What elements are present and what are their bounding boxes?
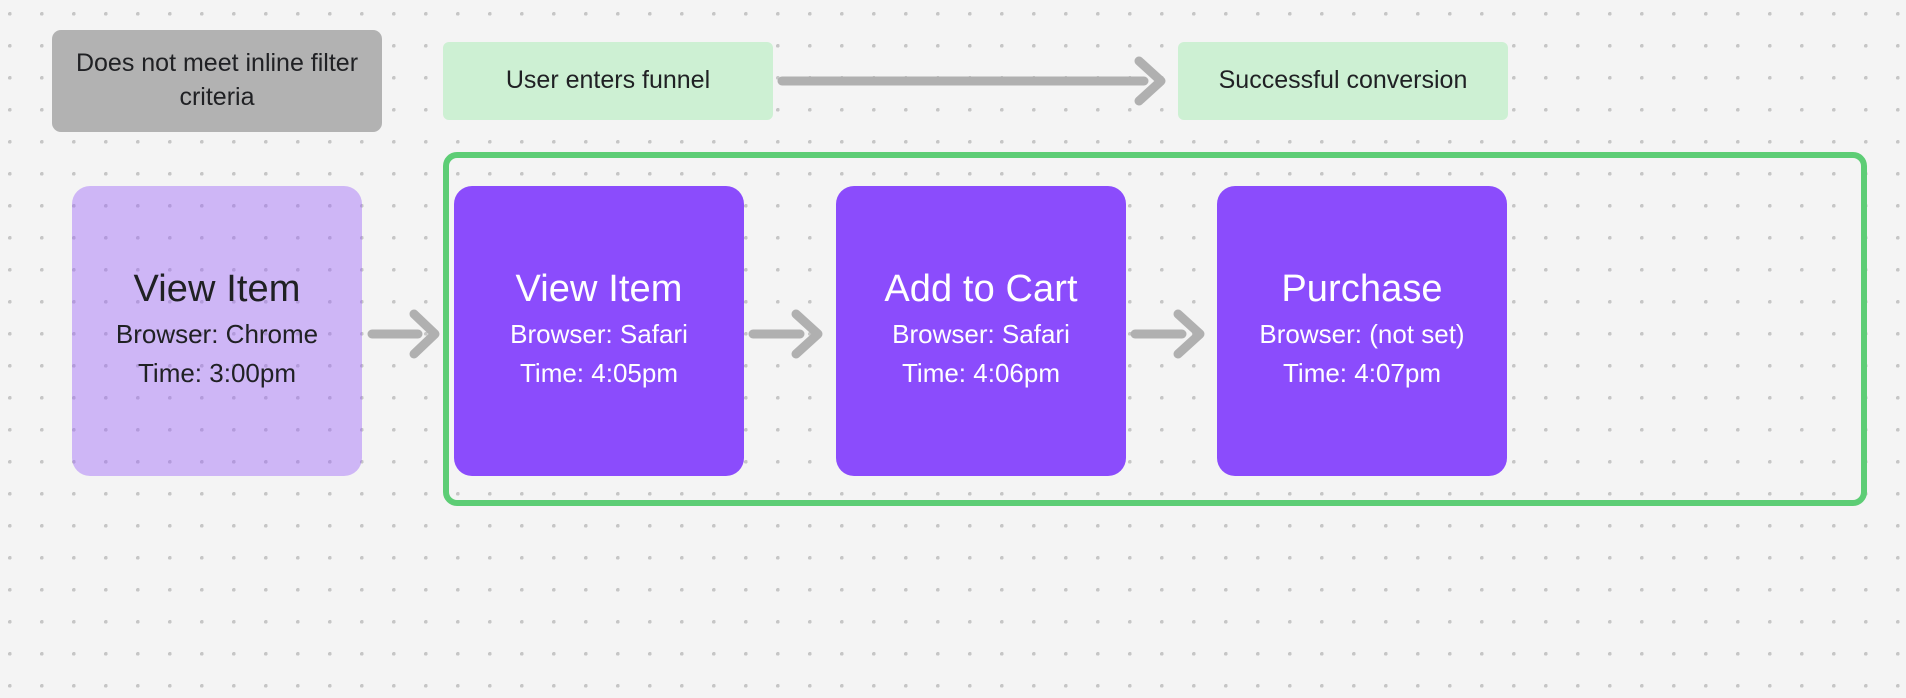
event-card-browser: Browser: Chrome xyxy=(116,315,318,355)
legend-conversion-label: Successful conversion xyxy=(1219,64,1468,98)
event-card-browser: Browser: Safari xyxy=(510,315,688,355)
event-card-time: Time: 3:00pm xyxy=(138,354,296,394)
legend-excluded-chip: Does not meet inline filter criteria xyxy=(52,30,382,132)
event-card-funnel-step-1[interactable]: View Item Browser: Safari Time: 4:05pm xyxy=(454,186,744,476)
event-card-browser: Browser: Safari xyxy=(892,315,1070,355)
event-card-time: Time: 4:07pm xyxy=(1283,354,1441,394)
legend-excluded-label: Does not meet inline filter criteria xyxy=(52,47,382,115)
event-card-time: Time: 4:05pm xyxy=(520,354,678,394)
legend-funnel-entry-label: User enters funnel xyxy=(506,64,710,98)
event-card-excluded[interactable]: View Item Browser: Chrome Time: 3:00pm xyxy=(72,186,362,476)
event-card-title: Purchase xyxy=(1281,268,1442,311)
legend-conversion-chip: Successful conversion xyxy=(1178,42,1508,120)
event-card-time: Time: 4:06pm xyxy=(902,354,1060,394)
event-card-funnel-step-2[interactable]: Add to Cart Browser: Safari Time: 4:06pm xyxy=(836,186,1126,476)
event-card-title: View Item xyxy=(133,268,300,311)
event-card-browser: Browser: (not set) xyxy=(1259,315,1464,355)
diagram-canvas: Does not meet inline filter criteria Use… xyxy=(0,0,1906,698)
event-card-title: View Item xyxy=(515,268,682,311)
flow-arrow-excluded-to-step-1 xyxy=(368,306,444,362)
event-card-title: Add to Cart xyxy=(884,268,1077,311)
legend-funnel-entry-chip: User enters funnel xyxy=(443,42,773,120)
legend-flow-arrow xyxy=(778,57,1173,105)
event-card-funnel-step-3[interactable]: Purchase Browser: (not set) Time: 4:07pm xyxy=(1217,186,1507,476)
